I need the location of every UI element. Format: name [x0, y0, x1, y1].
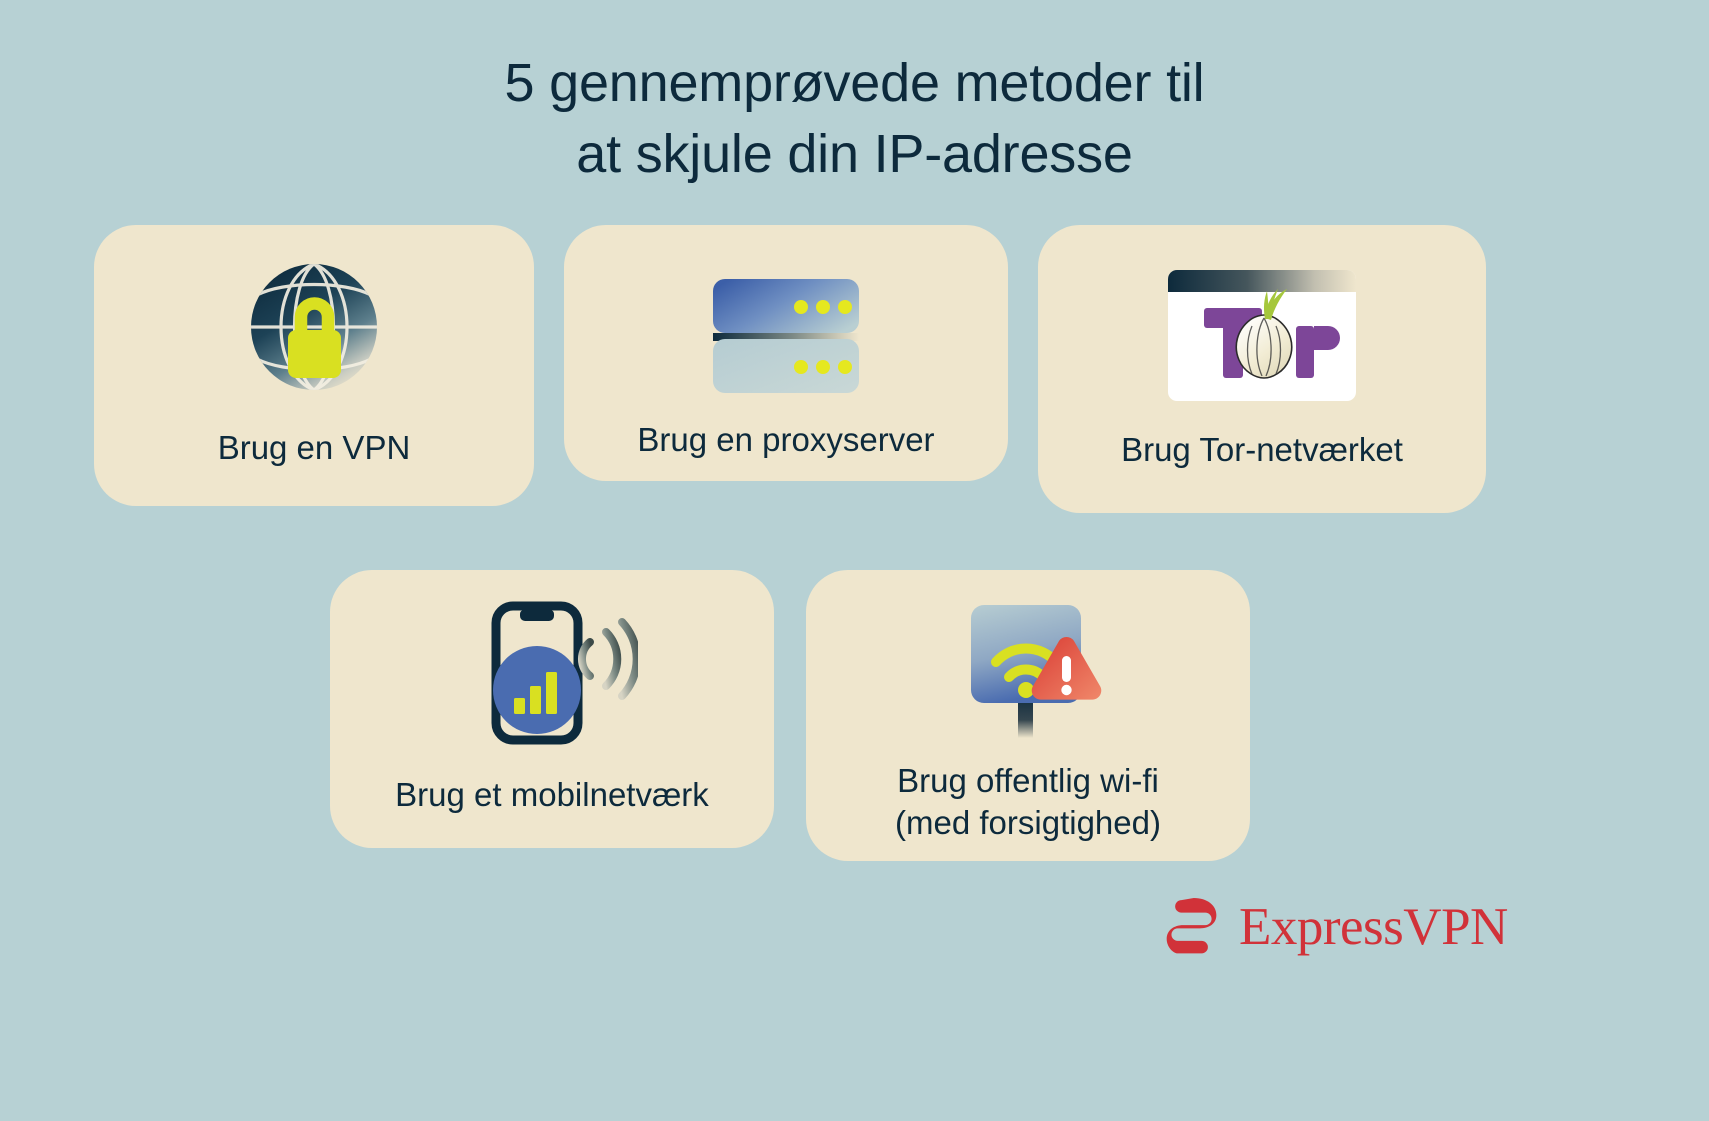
method-card-vpn-label: Brug en VPN — [218, 427, 411, 469]
page-title-line-1: 5 gennemprøvede metoder til — [0, 48, 1709, 119]
exclamation-bar — [1062, 656, 1071, 682]
globe-lock-icon-wrap — [244, 253, 384, 403]
page-title-line-2: at skjule din IP-adresse — [0, 119, 1709, 190]
mobile-signal-icon-wrap — [466, 598, 638, 748]
method-card-tor[interactable]: Brug Tor-netværket — [1038, 225, 1486, 513]
expressvpn-wordmark: ExpressVPN — [1239, 901, 1508, 954]
wireless-waves-icon — [582, 622, 637, 696]
method-card-mobile-label: Brug et mobilnetværk — [395, 774, 709, 816]
server-stack-icon — [711, 277, 861, 395]
server-status-dots-bottom — [794, 360, 852, 374]
server-stack-icon-wrap — [711, 255, 861, 395]
method-card-tor-label: Brug Tor-netværket — [1121, 429, 1403, 471]
method-card-wifi-label: Brug offentlig wi-fi (med forsigtighed) — [895, 760, 1161, 843]
method-card-vpn[interactable]: Brug en VPN — [94, 225, 534, 506]
method-card-mobile[interactable]: Brug et mobilnetværk — [330, 570, 774, 848]
method-card-wifi[interactable]: Brug offentlig wi-fi (med forsigtighed) — [806, 570, 1250, 861]
tor-browser-icon-wrap — [1166, 253, 1358, 403]
expressvpn-e-mark-icon — [1163, 898, 1225, 956]
public-wifi-warning-icon-wrap — [952, 598, 1104, 738]
tor-browser-icon — [1166, 268, 1358, 403]
public-wifi-warning-icon — [952, 598, 1104, 738]
mobile-signal-icon — [466, 598, 638, 748]
globe-lock-icon — [244, 255, 384, 403]
method-card-proxy[interactable]: Brug en proxyserver — [564, 225, 1008, 481]
page-title: 5 gennemprøvede metoder til at skjule di… — [0, 48, 1709, 191]
wifi-dot — [1018, 682, 1034, 698]
server-status-dots-top — [794, 300, 852, 314]
infographic-canvas: 5 gennemprøvede metoder til at skjule di… — [0, 0, 1709, 1121]
method-card-proxy-label: Brug en proxyserver — [637, 419, 934, 461]
expressvpn-logo[interactable]: ExpressVPN — [1163, 898, 1508, 956]
exclamation-dot — [1061, 685, 1071, 695]
